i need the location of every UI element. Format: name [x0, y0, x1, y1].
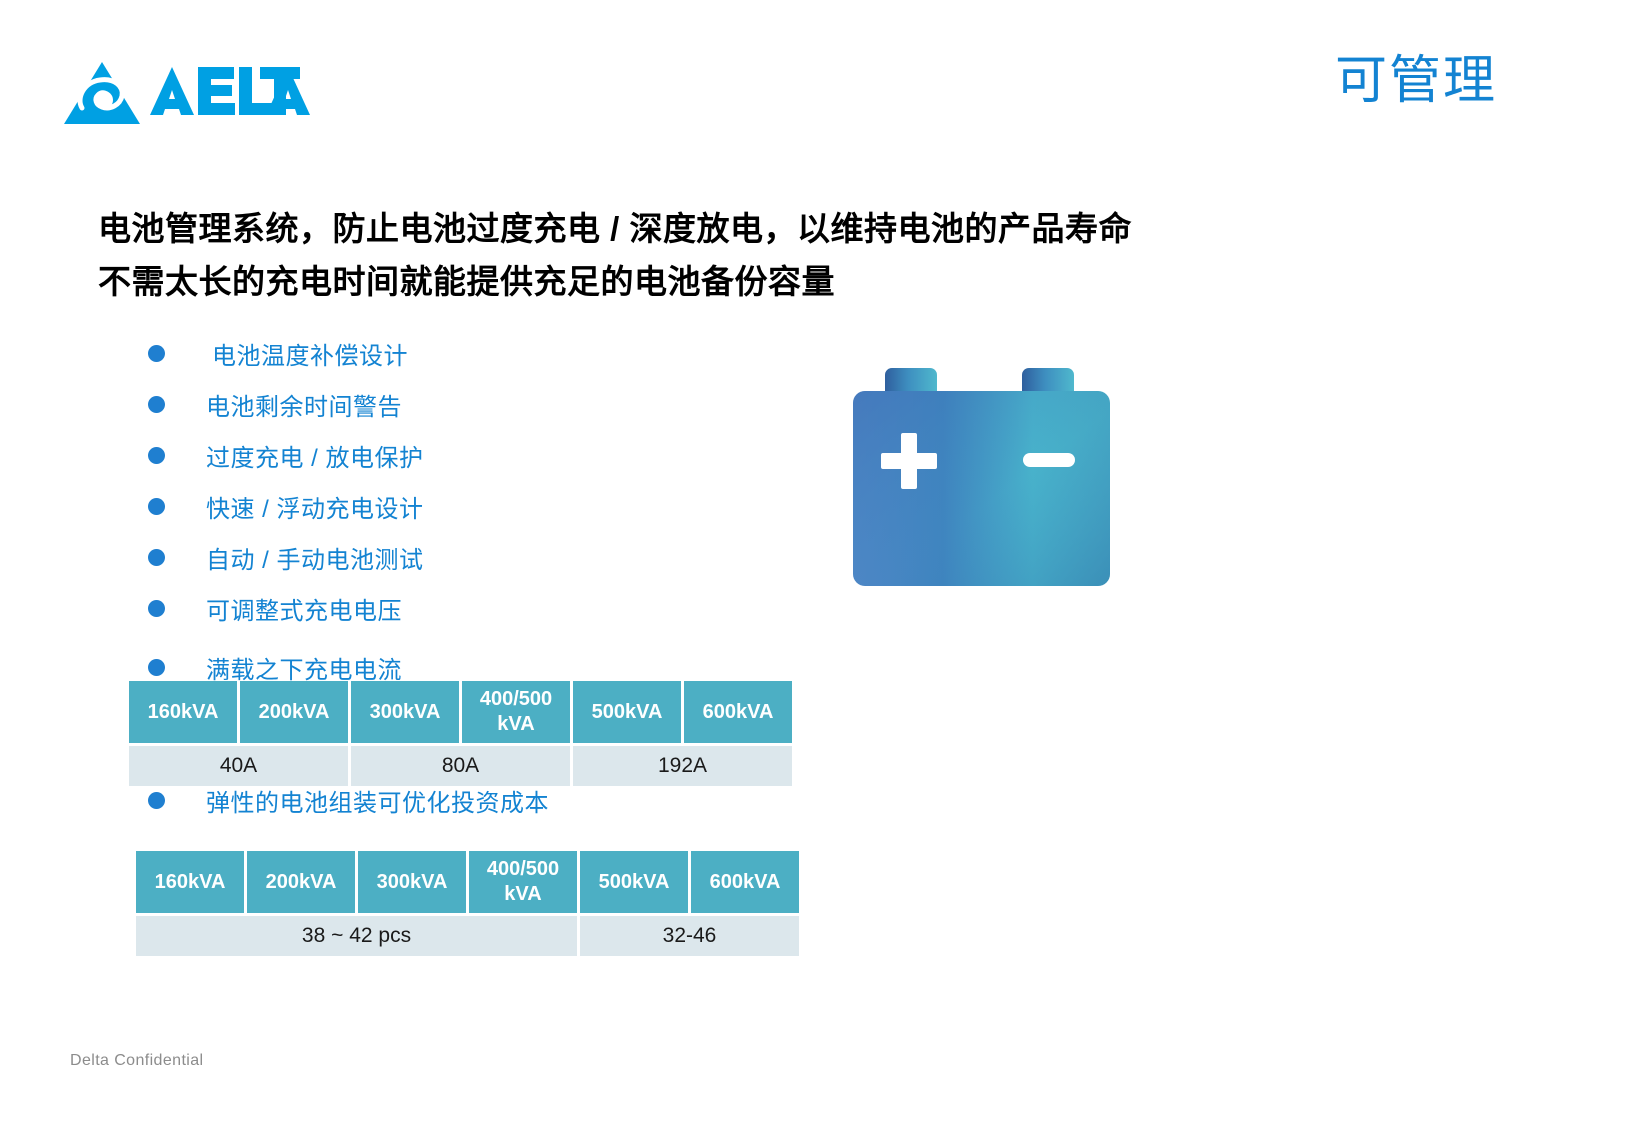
bullet-dot-icon	[148, 549, 165, 566]
bullet-dot-icon	[148, 659, 165, 676]
feature-bullet-list: 电池温度补偿设计 电池剩余时间警告 过度充电 / 放电保护 快速 / 浮动充电设…	[148, 328, 768, 634]
table-header-cell: 500kVA	[573, 681, 681, 743]
table-header-cell: 200kVA	[247, 851, 355, 913]
bullet-label: 自动 / 手动电池测试	[206, 540, 424, 575]
headline-line-1: 电池管理系统，防止电池过度充电 / 深度放电，以维持电池的产品寿命	[98, 202, 1218, 255]
list-item: 电池剩余时间警告	[148, 379, 768, 430]
battery-count-table: 160kVA 200kVA 300kVA 400/500 kVA 500kVA …	[133, 848, 802, 959]
table-row: 38 ~ 42 pcs 32-46	[136, 916, 799, 956]
page-title: 可管理	[1335, 55, 1497, 107]
table-header-cell: 160kVA	[136, 851, 244, 913]
table-header-row: 160kVA 200kVA 300kVA 400/500 kVA 500kVA …	[129, 681, 792, 743]
headline-line-2: 不需太长的充电时间就能提供充足的电池备份容量	[98, 255, 1218, 308]
bullet-label: 弹性的电池组装可优化投资成本	[206, 783, 549, 818]
table-header-row: 160kVA 200kVA 300kVA 400/500 kVA 500kVA …	[136, 851, 799, 913]
bullet-dot-icon	[148, 396, 165, 413]
battery-block-icon	[845, 358, 1120, 598]
table-header-cell: 200kVA	[240, 681, 348, 743]
delta-wordmark	[148, 63, 313, 124]
list-item: 自动 / 手动电池测试	[148, 532, 768, 583]
list-item-battery-pack: 弹性的电池组装可优化投资成本	[148, 785, 549, 815]
bullet-label: 快速 / 浮动充电设计	[206, 489, 424, 524]
charge-current-table: 160kVA 200kVA 300kVA 400/500 kVA 500kVA …	[126, 678, 795, 789]
bullet-label: 过度充电 / 放电保护	[206, 438, 424, 473]
table-cell: 80A	[351, 746, 570, 786]
bullet-label: 电池温度补偿设计	[212, 336, 408, 371]
bullet-dot-icon	[148, 498, 165, 515]
delta-logo	[62, 58, 313, 128]
headline: 电池管理系统，防止电池过度充电 / 深度放电，以维持电池的产品寿命 不需太长的充…	[98, 202, 1218, 308]
table-header-cell: 400/500 kVA	[469, 851, 577, 913]
table-header-cell: 300kVA	[358, 851, 466, 913]
table-header-cell: 300kVA	[351, 681, 459, 743]
bullet-label: 可调整式充电电压	[206, 591, 402, 626]
table-header-cell: 500kVA	[580, 851, 688, 913]
list-item: 过度充电 / 放电保护	[148, 430, 768, 481]
bullet-dot-icon	[148, 600, 165, 617]
table-cell: 38 ~ 42 pcs	[136, 916, 577, 956]
table-row: 40A 80A 192A	[129, 746, 792, 786]
list-item: 快速 / 浮动充电设计	[148, 481, 768, 532]
bullet-dot-icon	[148, 447, 165, 464]
table-header-cell: 600kVA	[691, 851, 799, 913]
table-header-cell: 160kVA	[129, 681, 237, 743]
table-cell: 40A	[129, 746, 348, 786]
slide-canvas: 可管理 电池管理系统，防止电池过度充电 / 深度放电，以维持电池的产品寿命 不需…	[0, 0, 1625, 1125]
table-cell: 32-46	[580, 916, 799, 956]
table-header-cell: 600kVA	[684, 681, 792, 743]
list-item: 电池温度补偿设计	[148, 328, 768, 379]
footer-confidential-text: Delta Confidential	[70, 1052, 204, 1070]
table-cell: 192A	[573, 746, 792, 786]
bullet-dot-icon	[148, 792, 165, 809]
table-header-cell: 400/500 kVA	[462, 681, 570, 743]
bullet-dot-icon	[148, 345, 165, 362]
list-item: 可调整式充电电压	[148, 583, 768, 634]
delta-triangle-logo-icon	[62, 58, 142, 128]
bullet-label: 电池剩余时间警告	[206, 387, 402, 422]
